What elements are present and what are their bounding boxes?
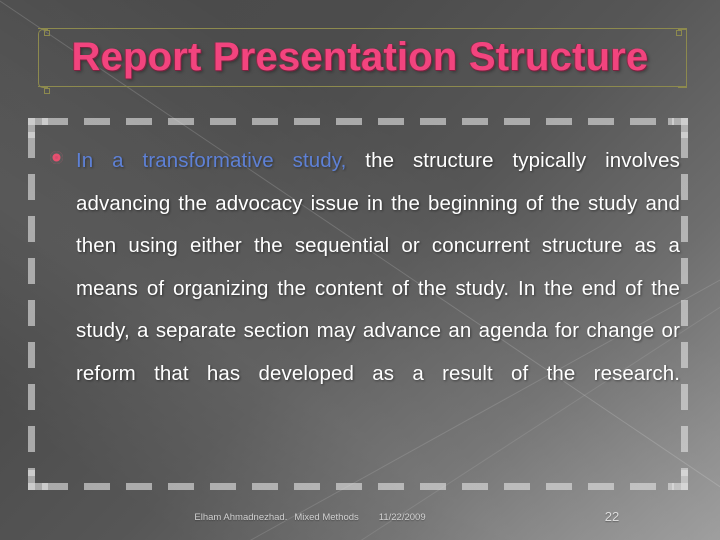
dashed-frame-bottom xyxy=(42,483,674,490)
dashed-frame-corner-tr-h xyxy=(668,118,688,125)
title-area: Report Presentation Structure xyxy=(0,28,720,96)
body-content: In a transformative study, the structure… xyxy=(44,140,680,438)
slide-title: Report Presentation Structure xyxy=(0,28,720,88)
dashed-frame-corner-bl-h xyxy=(28,483,48,490)
body-accent-phrase: In a transformative study, xyxy=(76,149,346,172)
dashed-frame-left xyxy=(28,132,35,476)
title-corner-tick-bottom-left xyxy=(44,88,50,94)
body-paragraph: In a transformative study, the structure… xyxy=(76,140,680,438)
dashed-frame-corner-tr-v xyxy=(681,118,688,138)
slide-page-number: 22 xyxy=(592,509,632,524)
bullet-list-item: In a transformative study, the structure… xyxy=(44,140,680,438)
dashed-frame-corner-tl-h xyxy=(28,118,48,125)
dashed-frame-corner-br-h xyxy=(668,483,688,490)
ring-bullet-icon xyxy=(50,151,63,164)
presentation-slide: Report Presentation Structure In a trans… xyxy=(0,0,720,540)
dashed-frame-corner-tl-v xyxy=(28,118,35,138)
footer-author: Elham Ahmadnezhad. xyxy=(194,512,287,523)
slide-footer: Elham Ahmadnezhad.Mixed Methods11/22/200… xyxy=(0,512,720,534)
footer-meta: Elham Ahmadnezhad.Mixed Methods11/22/200… xyxy=(160,512,460,523)
dashed-frame-corner-br-v xyxy=(681,470,688,490)
dashed-frame-top xyxy=(42,118,674,125)
dashed-frame-right xyxy=(681,132,688,476)
body-main-text: the structure typically involves advanci… xyxy=(76,149,680,385)
dashed-frame-corner-bl-v xyxy=(28,470,35,490)
footer-subject: Mixed Methods xyxy=(294,512,358,523)
footer-date: 11/22/2009 xyxy=(379,512,426,523)
